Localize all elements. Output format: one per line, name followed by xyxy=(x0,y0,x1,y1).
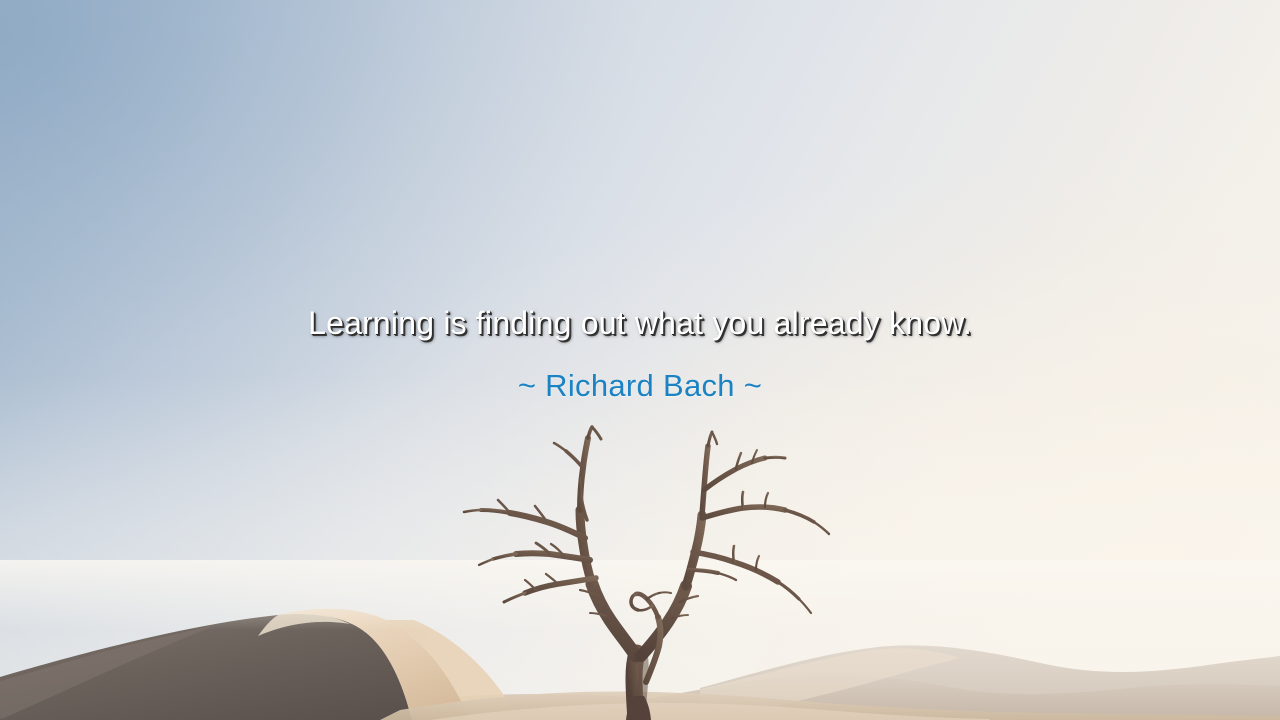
quote-text: Learning is finding out what you already… xyxy=(0,300,1280,346)
dead-tree-silhouette xyxy=(440,420,840,720)
quote-block: Learning is finding out what you already… xyxy=(0,300,1280,406)
quote-wallpaper: Learning is finding out what you already… xyxy=(0,0,1280,720)
quote-author: ~ Richard Bach ~ xyxy=(0,366,1280,406)
